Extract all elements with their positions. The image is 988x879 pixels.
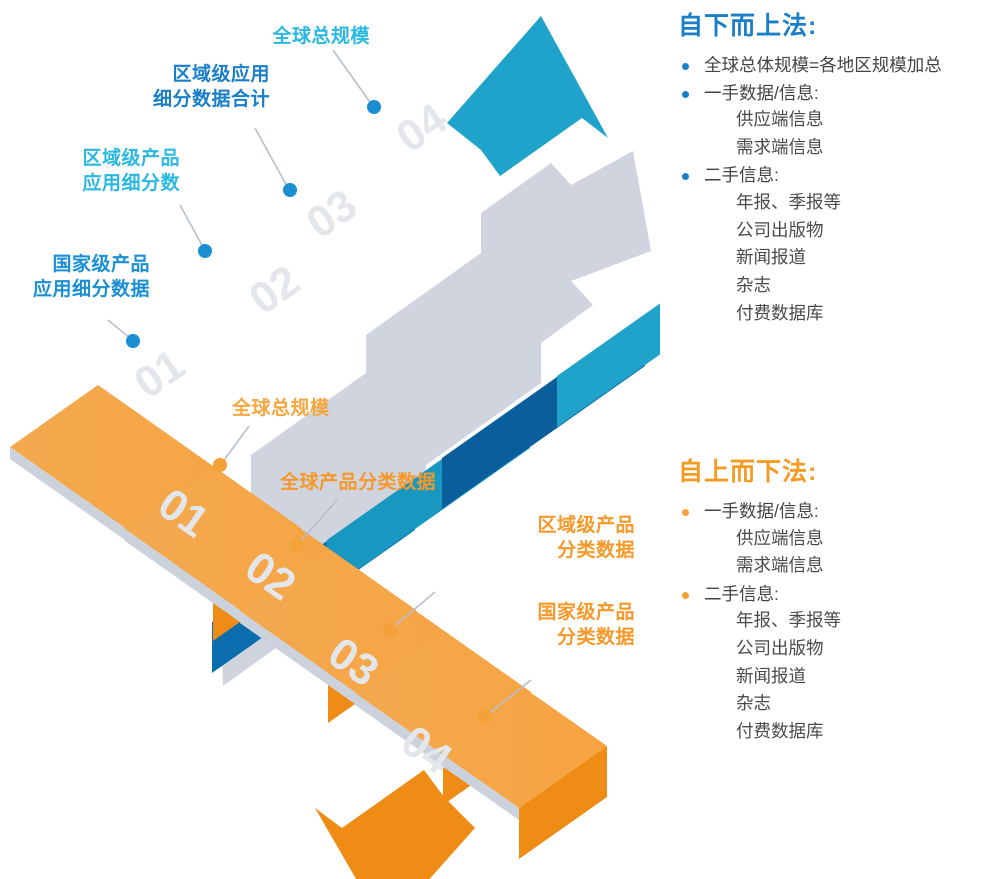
sub-list-item: 需求端信息 bbox=[736, 134, 988, 162]
sub-list-item: 公司出版物 bbox=[736, 635, 988, 663]
bullet-dot-icon bbox=[682, 509, 689, 516]
leader-orange-01 bbox=[222, 426, 249, 463]
bullet-dot-icon bbox=[682, 63, 689, 70]
leader-blue-02 bbox=[180, 205, 204, 249]
sub-list-item: 付费数据库 bbox=[736, 718, 988, 746]
staircase-graphic: 01 02 03 04 01 02 03 04 bbox=[0, 0, 660, 879]
list-item-label: 二手信息: bbox=[704, 165, 779, 185]
list-item: 一手数据/信息: 供应端信息 需求端信息 bbox=[678, 498, 988, 580]
dot-blue-02 bbox=[198, 244, 212, 258]
panel-top-down: 自上而下法: 一手数据/信息: 供应端信息 需求端信息 二手信息: 年报、季报等… bbox=[678, 452, 988, 747]
list-item: 二手信息: 年报、季报等 公司出版物 新闻报道 杂志 付费数据库 bbox=[678, 581, 988, 746]
list-item-label: 一手数据/信息: bbox=[704, 501, 819, 521]
panel-bottom-up-title: 自下而上法: bbox=[678, 6, 988, 42]
sub-list-item: 新闻报道 bbox=[736, 244, 988, 272]
sub-list-item: 付费数据库 bbox=[736, 300, 988, 328]
leader-blue-01 bbox=[108, 320, 131, 339]
blue-label-01: 国家级产品 应用细分数据 bbox=[0, 252, 150, 302]
blue-step-01-number: 01 bbox=[126, 340, 194, 408]
sub-list: 年报、季报等 公司出版物 新闻报道 杂志 付费数据库 bbox=[704, 189, 988, 327]
dot-blue-04 bbox=[367, 100, 381, 114]
sub-list-item: 公司出版物 bbox=[736, 217, 988, 245]
panel-top-down-title: 自上而下法: bbox=[678, 452, 988, 488]
panel-bottom-up-list: 全球总体规模=各地区规模加总 一手数据/信息: 供应端信息 需求端信息 二手信息… bbox=[678, 52, 988, 327]
diagram-canvas: 01 02 03 04 01 02 03 04 bbox=[0, 0, 988, 879]
sub-list: 供应端信息 需求端信息 bbox=[704, 106, 988, 161]
leader-blue-03 bbox=[255, 128, 288, 188]
orange-label-03: 区域级产品 分类数据 bbox=[380, 513, 635, 563]
bullet-dot-icon bbox=[682, 592, 689, 599]
list-item-label: 一手数据/信息: bbox=[704, 83, 819, 103]
blue-label-04: 全球总规模 bbox=[150, 24, 370, 49]
panel-top-down-list: 一手数据/信息: 供应端信息 需求端信息 二手信息: 年报、季报等 公司出版物 … bbox=[678, 498, 988, 746]
bullet-dot-icon bbox=[682, 173, 689, 180]
sub-list: 供应端信息 需求端信息 bbox=[704, 525, 988, 580]
orange-label-02: 全球产品分类数据 bbox=[280, 470, 540, 495]
blue-label-03: 区域级应用 细分数据合计 bbox=[60, 62, 270, 112]
dot-orange-02 bbox=[290, 538, 304, 552]
sub-list-item: 供应端信息 bbox=[736, 106, 988, 134]
dot-blue-01 bbox=[126, 334, 140, 348]
bullet-dot-icon bbox=[682, 91, 689, 98]
dot-blue-03 bbox=[283, 183, 297, 197]
list-item: 一手数据/信息: 供应端信息 需求端信息 bbox=[678, 80, 988, 162]
list-item-label: 全球总体规模=各地区规模加总 bbox=[704, 55, 942, 75]
sub-list-item: 杂志 bbox=[736, 272, 988, 300]
dot-orange-01 bbox=[213, 458, 227, 472]
blue-step-03-number: 03 bbox=[298, 180, 366, 248]
sub-list-item: 供应端信息 bbox=[736, 525, 988, 553]
sub-list-item: 年报、季报等 bbox=[736, 607, 988, 635]
blue-step-02-number: 02 bbox=[241, 256, 309, 324]
sub-list-item: 杂志 bbox=[736, 690, 988, 718]
blue-step-04-number: 04 bbox=[388, 94, 457, 163]
sub-list-item: 需求端信息 bbox=[736, 552, 988, 580]
blue-arrow-head bbox=[447, 16, 608, 176]
orange-label-04: 国家级产品 分类数据 bbox=[380, 600, 635, 650]
list-item: 二手信息: 年报、季报等 公司出版物 新闻报道 杂志 付费数据库 bbox=[678, 162, 988, 327]
leader-blue-04 bbox=[333, 50, 372, 105]
sub-list-item: 新闻报道 bbox=[736, 663, 988, 691]
sub-list: 年报、季报等 公司出版物 新闻报道 杂志 付费数据库 bbox=[704, 607, 988, 745]
panel-bottom-up: 自下而上法: 全球总体规模=各地区规模加总 一手数据/信息: 供应端信息 需求端… bbox=[678, 6, 988, 328]
orange-label-01: 全球总规模 bbox=[232, 396, 452, 421]
blue-label-02: 区域级产品 应用细分数 bbox=[0, 146, 180, 196]
list-item: 全球总体规模=各地区规模加总 bbox=[678, 52, 988, 79]
dot-orange-04 bbox=[478, 710, 492, 724]
sub-list-item: 年报、季报等 bbox=[736, 189, 988, 217]
list-item-label: 二手信息: bbox=[704, 584, 779, 604]
